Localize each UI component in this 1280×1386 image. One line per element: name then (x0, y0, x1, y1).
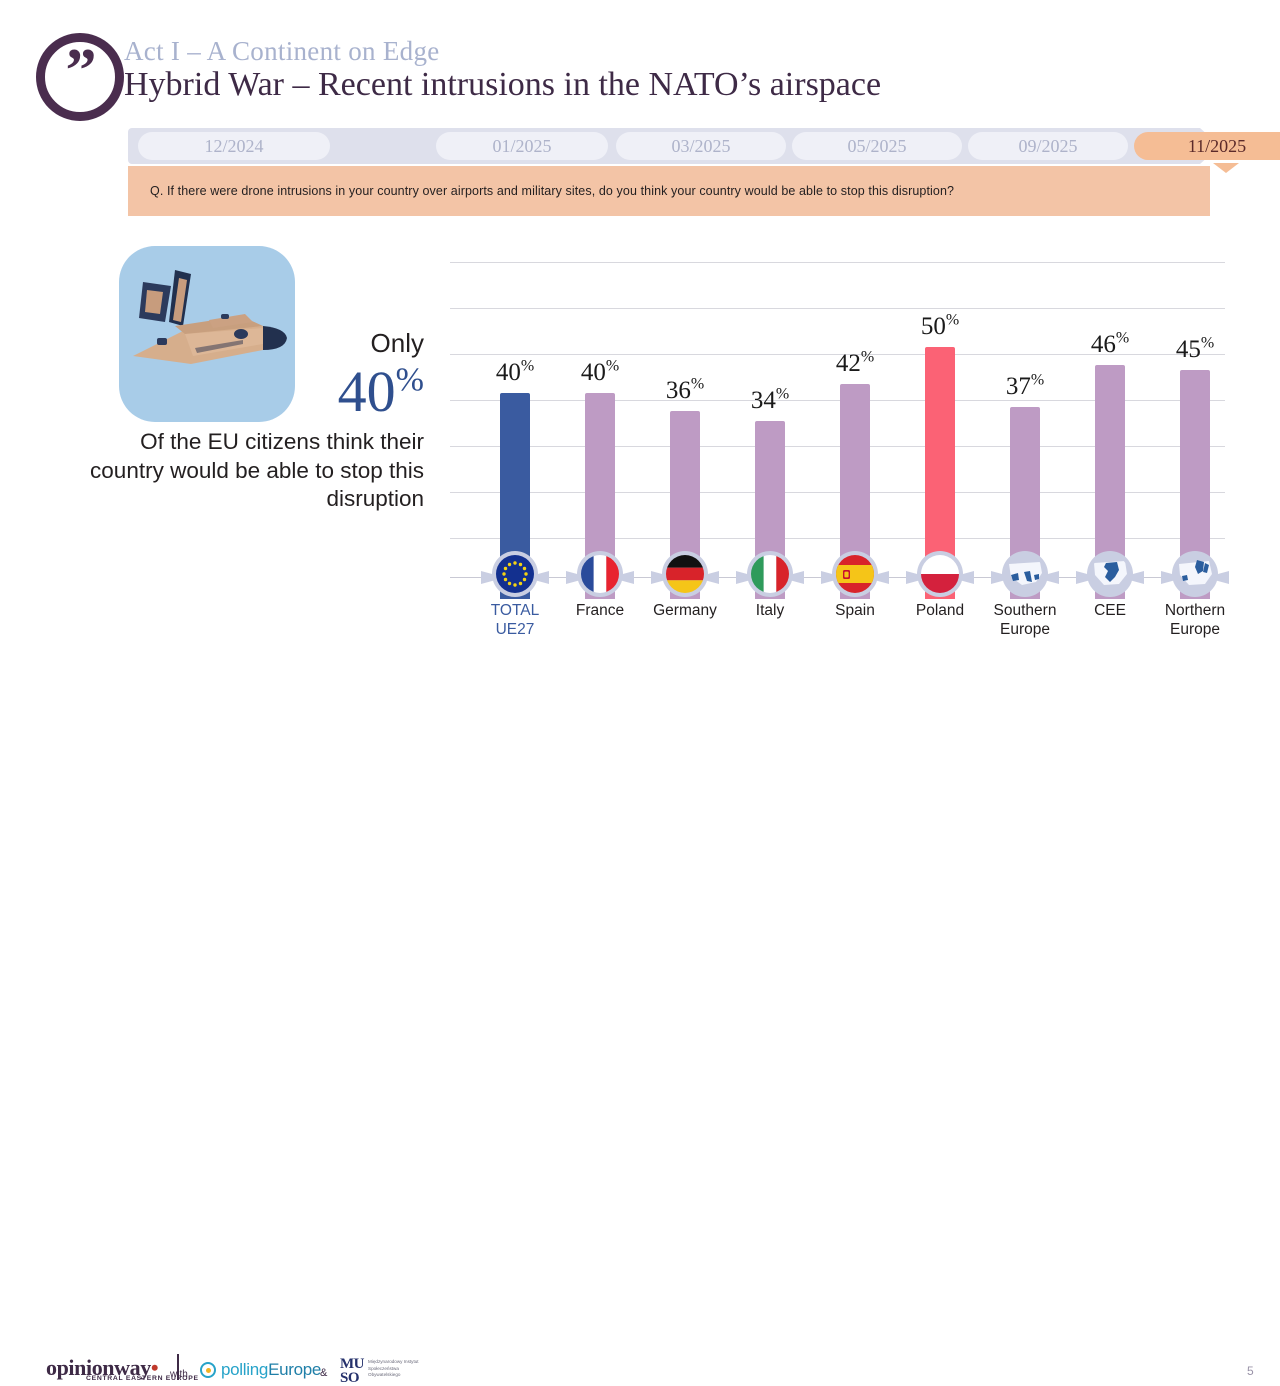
map-northern-europe-icon (1172, 551, 1218, 597)
medallion-art (921, 555, 959, 593)
medallion-art (1176, 555, 1214, 593)
medallion-art (581, 555, 619, 593)
polling-europe-wordmark: pollingEurope (221, 1360, 321, 1380)
bar-value-label: 46% (1067, 331, 1153, 359)
europe-text: Europe (268, 1360, 321, 1379)
quote-mark-icon: ” (36, 33, 124, 121)
axis-ribbon-right-icon (792, 571, 804, 584)
muso-logo: MUSO (340, 1358, 364, 1386)
bar-category-line: Europe (969, 621, 1081, 640)
bar-value-label: 36% (642, 377, 728, 405)
drone-aircraft-icon (119, 246, 295, 422)
slide-footer: opinionway• CENTRAL EASTERN EUROPE with … (0, 672, 1280, 720)
map-cee-icon (1087, 551, 1133, 597)
only-label: Only (300, 328, 424, 359)
ampersand-label: & (320, 1367, 327, 1379)
bar-chart: 40%TOTALUE27 40%France 36%Germany 34%Ita… (450, 240, 1225, 660)
bar-value-label: 40% (557, 359, 643, 387)
axis-ribbon-right-icon (707, 571, 719, 584)
medallion-art (496, 555, 534, 593)
axis-ribbon-right-icon (1132, 571, 1144, 584)
flag-eu-icon (492, 551, 538, 597)
timeline-item-3[interactable]: 05/2025 (792, 132, 962, 160)
timeline-item-4[interactable]: 09/2025 (968, 132, 1128, 160)
key-figure-value: 40% (280, 363, 424, 421)
medallion-art (1006, 555, 1044, 593)
question-text: Q. If there were drone intrusions in you… (150, 184, 954, 198)
bar-value-label: 40% (472, 359, 558, 387)
bar-column-total-ue27[interactable]: 40%TOTALUE27 (472, 240, 558, 660)
bar-column-poland[interactable]: 50%Poland (897, 240, 983, 660)
bar-category-line: Europe (1139, 621, 1251, 640)
medallion-art (666, 555, 704, 593)
axis-ribbon-right-icon (1047, 571, 1059, 584)
bar-category-line: UE27 (459, 621, 571, 640)
timeline-item-5[interactable]: 11/2025 (1134, 132, 1280, 160)
flag-france-icon (577, 551, 623, 597)
bar-category-label: NorthernEurope (1139, 602, 1251, 639)
timeline-active-notch-icon (1213, 163, 1239, 173)
page-number: 5 (1247, 1364, 1254, 1378)
bar-column-italy[interactable]: 34%Italy (727, 240, 813, 660)
flag-spain-icon (832, 551, 878, 597)
polling-europe-icon (200, 1362, 216, 1378)
muso-subtitle: Międzynarodowy Instytut Społeczeństwa Ob… (368, 1359, 432, 1379)
timeline-item-2[interactable]: 03/2025 (616, 132, 786, 160)
timeline: 12/2024 01/2025 03/2025 05/2025 09/2025 … (128, 128, 1220, 164)
muso-line-1: MU (340, 1358, 364, 1372)
bar-category-line: Northern (1139, 602, 1251, 621)
bar-column-cee[interactable]: 46%CEE (1067, 240, 1153, 660)
axis-ribbon-right-icon (1217, 571, 1229, 584)
flag-italy-icon (747, 551, 793, 597)
bar-column-southern-europe[interactable]: 37%SouthernEurope (982, 240, 1068, 660)
timeline-item-0[interactable]: 12/2024 (138, 132, 330, 160)
quote-glyph: ” (66, 40, 95, 102)
bar-value-label: 50% (897, 313, 983, 341)
axis-ribbon-right-icon (962, 571, 974, 584)
key-figure-number: 40 (338, 359, 396, 424)
bar-column-northern-europe[interactable]: 45%NorthernEurope (1152, 240, 1238, 660)
slide-eyebrow: Act I – A Continent on Edge (124, 36, 440, 67)
drone-aircraft-glyph (119, 264, 295, 414)
page-title: Hybrid War – Recent intrusions in the NA… (124, 66, 881, 104)
medallion-art (751, 555, 789, 593)
medallion-art (1091, 555, 1129, 593)
bar-column-france[interactable]: 40%France (557, 240, 643, 660)
muso-line-2: SO (340, 1372, 364, 1386)
axis-ribbon-right-icon (537, 571, 549, 584)
map-southern-europe-icon (1002, 551, 1048, 597)
bar-value-label: 42% (812, 350, 898, 378)
timeline-item-1[interactable]: 01/2025 (436, 132, 608, 160)
with-label: with (170, 1369, 188, 1380)
bar-value-label: 45% (1152, 336, 1238, 364)
bar-column-germany[interactable]: 36%Germany (642, 240, 728, 660)
axis-ribbon-right-icon (877, 571, 889, 584)
flag-poland-icon (917, 551, 963, 597)
polling-text: polling (221, 1360, 268, 1379)
bar-value-label: 37% (982, 373, 1068, 401)
flag-germany-icon (662, 551, 708, 597)
bar-value-label: 34% (727, 387, 813, 415)
key-figure-percent: % (396, 362, 424, 399)
medallion-art (836, 555, 874, 593)
bar-column-spain[interactable]: 42%Spain (812, 240, 898, 660)
key-figure-description: Of the EU citizens think their country w… (88, 428, 424, 514)
slide-header: ” Act I – A Continent on Edge Hybrid War… (0, 0, 1280, 118)
axis-ribbon-right-icon (622, 571, 634, 584)
question-banner: Q. If there were drone intrusions in you… (128, 166, 1210, 216)
